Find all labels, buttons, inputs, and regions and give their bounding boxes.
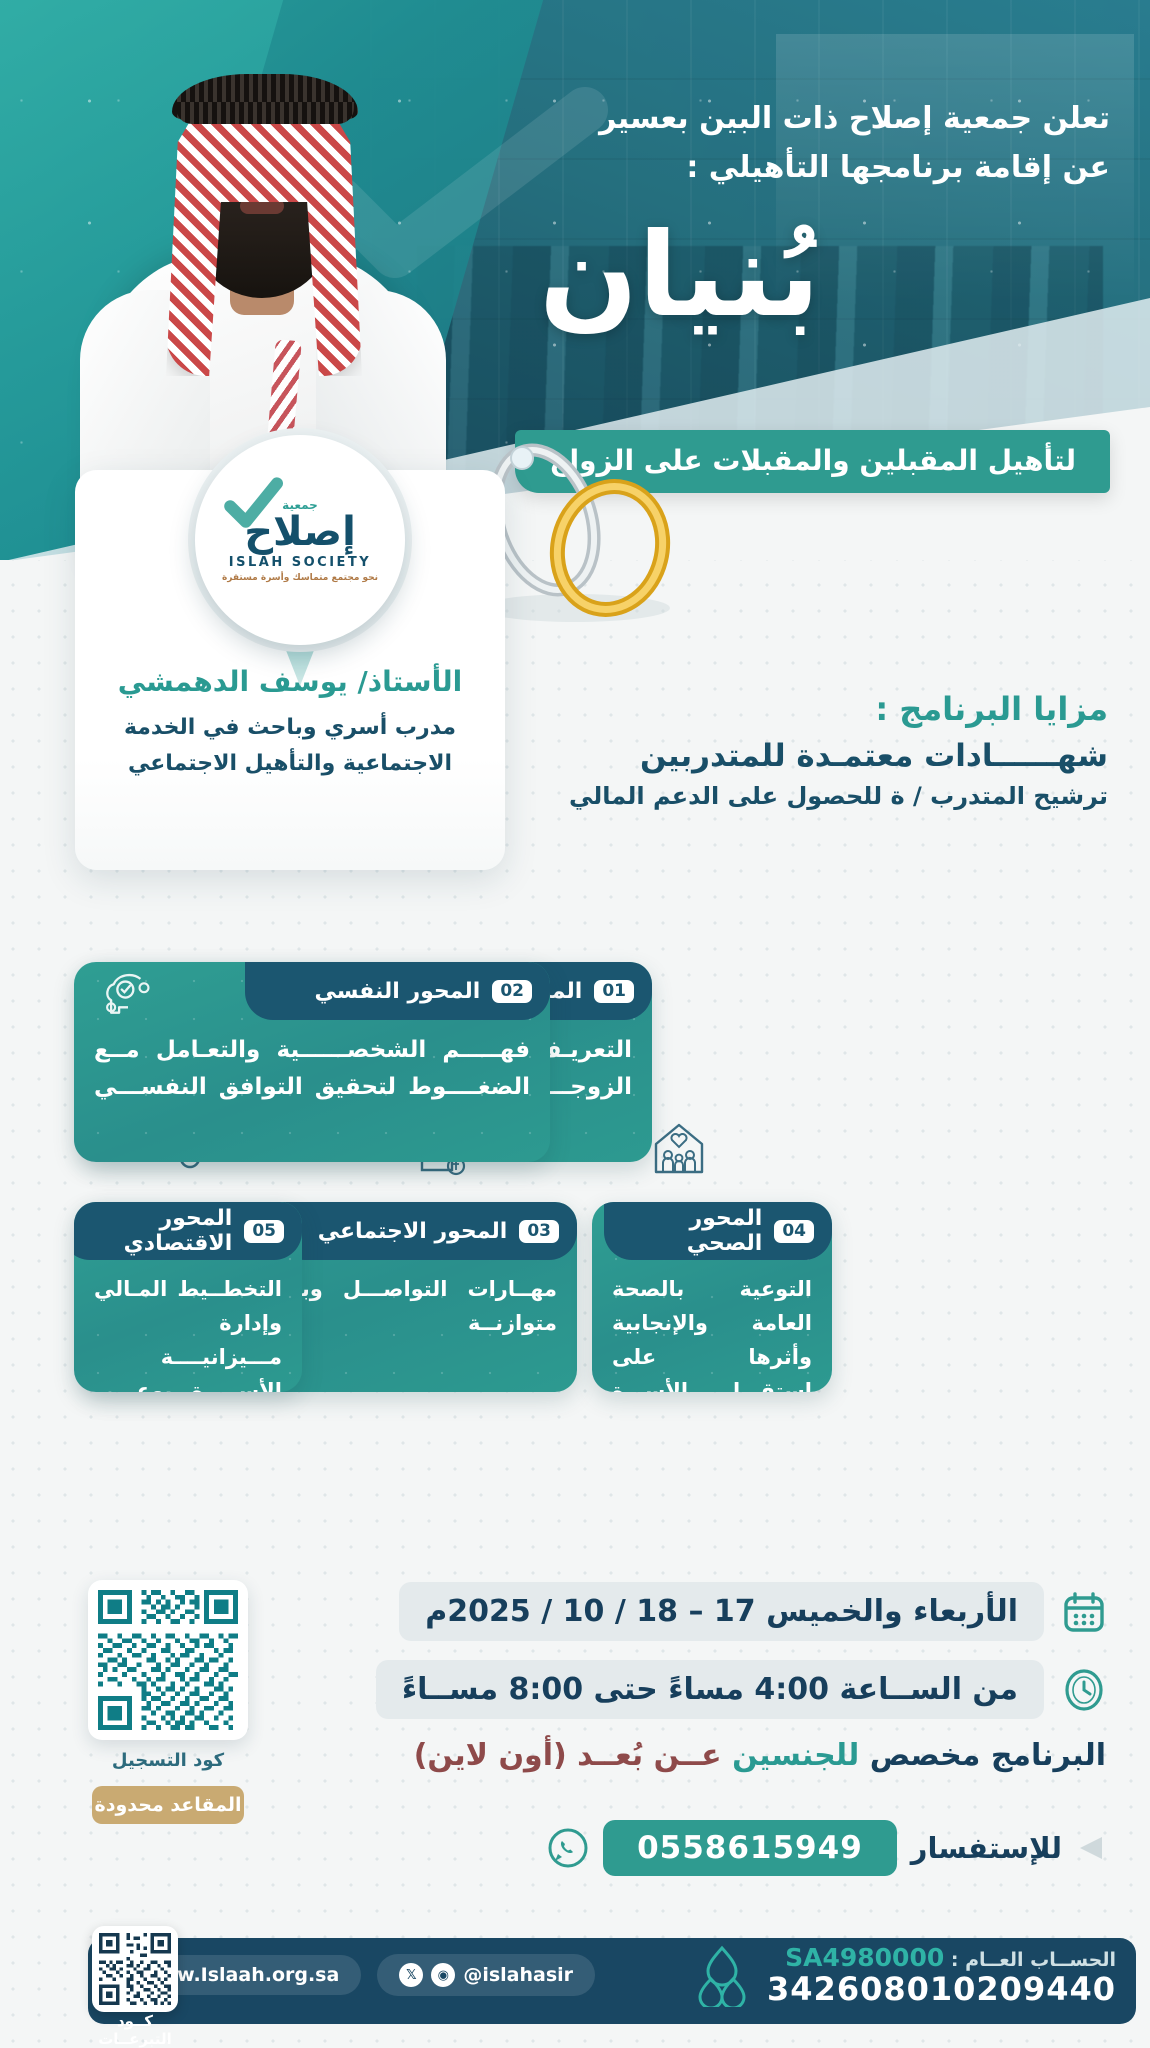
social-handle-pill[interactable]: 𝕏 ◉ @islahasir xyxy=(377,1954,595,1996)
axis-card-02-header: 02 المحور النفسي xyxy=(245,962,550,1020)
header-line-2: عن إقامة برنامجها التأهيلي : xyxy=(350,145,1110,190)
axis-card-05-body: التخطــيط المـالي وإدارة مـــيزانيــــة … xyxy=(94,1272,282,1392)
iban-prefix: SA4980000 xyxy=(785,1943,944,1972)
brain-gear-icon xyxy=(100,970,156,1018)
axis-card-03-number: 03 xyxy=(519,1220,559,1243)
axis-card-02-body: فهـــــم الشخصــــــية والتعـامل مــع ال… xyxy=(94,1032,530,1107)
axis-card-05-header: 05 المحور الاقتصادي xyxy=(74,1202,302,1260)
axis-card-05-number: 05 xyxy=(244,1220,284,1243)
program-benefits: مزايا البرنامج : شهــــــادات معتمـدة لل… xyxy=(448,690,1108,810)
audience-text-1: البرنامج مخصص xyxy=(870,1738,1106,1773)
audience-text-2: للجنسين xyxy=(732,1738,859,1773)
audience-line: البرنامج مخصص للجنسين عــن بُعــد (أون ل… xyxy=(414,1738,1106,1773)
logo-tagline: نحو مجتمع متماسك وأسرة مستقرة xyxy=(222,573,378,583)
inquiry-label: للإستفسار xyxy=(911,1831,1062,1865)
benefits-title: مزايا البرنامج : xyxy=(448,690,1108,728)
inquiry-phone[interactable]: 0558615949 xyxy=(603,1820,897,1876)
iban-number: 342608010209440 xyxy=(767,1972,1116,2008)
calendar-icon xyxy=(1062,1590,1106,1634)
axis-card-04-number: 04 xyxy=(774,1220,814,1243)
footer-bar: www.Islaah.org.sa 𝕏 ◉ @islahasir الحســا… xyxy=(0,1930,1150,2048)
social-handle-text: @islahasir xyxy=(463,1964,573,1986)
time-row: من الســاعة 4:00 مساءً حتى 8:00 مســاءً xyxy=(376,1660,1106,1719)
axis-card-04-header: 04 المحور الصحي xyxy=(604,1202,832,1260)
program-title: بُنيان xyxy=(539,218,820,334)
benefit-item-1: شهــــــادات معتمـدة للمتدربين xyxy=(448,738,1108,774)
axis-card-02-number: 02 xyxy=(492,980,532,1003)
date-row: الأربعاء والخميس 17 – 18 / 10 / 2025م xyxy=(399,1582,1106,1641)
speaker-role: مدرب أسري وباحث في الخدمة الاجتماعية وال… xyxy=(99,710,481,781)
qr-code-image xyxy=(98,1590,238,1730)
audience-text-3: عــن بُعــد (أون لاين) xyxy=(414,1738,722,1773)
iban-text: الحســاب العــام : SA4980000 34260801020… xyxy=(767,1944,1116,2008)
bank-account-block: الحســاب العــام : SA4980000 34260801020… xyxy=(693,1944,1116,2008)
axis-card-05[interactable]: 05 المحور الاقتصادي التخطــيط المـالي وإ… xyxy=(74,1202,302,1392)
registration-qr-caption: كود التسجيل xyxy=(88,1750,248,1771)
poster-root: تعلن جمعية إصلاح ذات البين بعسير عن إقام… xyxy=(0,0,1150,2048)
arrow-pointer-icon xyxy=(1076,1833,1106,1863)
footer-links: www.Islaah.org.sa 𝕏 ◉ @islahasir xyxy=(120,1954,595,1996)
check-mark-icon xyxy=(223,475,283,535)
whatsapp-icon[interactable] xyxy=(547,1827,589,1869)
x-icon[interactable]: 𝕏 xyxy=(399,1963,423,1987)
seats-badge: المقاعد محدودة xyxy=(92,1786,244,1824)
instagram-icon[interactable]: ◉ xyxy=(431,1963,455,1987)
logo-english-name: ISLAH SOCIETY xyxy=(229,555,371,570)
inquiry-row: للإستفسار 0558615949 xyxy=(547,1820,1106,1876)
axis-card-02-title: المحور النفسي xyxy=(315,979,481,1004)
header-announcement: تعلن جمعية إصلاح ذات البين بعسير عن إقام… xyxy=(350,96,1110,190)
donation-qr-code[interactable] xyxy=(92,1926,178,2012)
speaker-igal-lower xyxy=(176,102,354,124)
axis-card-02[interactable]: 02 المحور النفسي فهـــــم الشخصــــــية … xyxy=(74,962,550,1162)
donation-qr-caption: كــود التبرعــات xyxy=(80,2012,190,2048)
axis-card-03-header: 03 المحور الاجتماعي xyxy=(277,1202,577,1260)
organization-logo: جمعية إصلاح ISLAH SOCIETY نحو مجتمع متما… xyxy=(195,435,405,645)
registration-qr-code[interactable] xyxy=(88,1580,248,1740)
axis-card-04-title: المحور الصحي xyxy=(630,1206,762,1256)
donation-qr-image xyxy=(99,1933,171,2005)
axis-card-04-body: التوعية بالصحة العامة والإنجابية وأثرها … xyxy=(612,1272,812,1392)
axis-card-01-number: 01 xyxy=(594,980,634,1003)
axis-card-05-title: المحور الاقتصادي xyxy=(88,1206,232,1256)
bank-logo-icon xyxy=(693,1945,751,2007)
header-line-1: تعلن جمعية إصلاح ذات البين بعسير xyxy=(350,96,1110,141)
axis-card-03-title: المحور الاجتماعي xyxy=(318,1219,508,1244)
clock-icon xyxy=(1062,1668,1106,1712)
axis-card-04[interactable]: 04 المحور الصحي التوعية بالصحة العامة وا… xyxy=(592,1202,832,1392)
account-label: الحســاب العــام : xyxy=(951,1949,1116,1971)
account-label-row: الحســاب العــام : SA4980000 xyxy=(767,1944,1116,1972)
event-time: من الســاعة 4:00 مساءً حتى 8:00 مســاءً xyxy=(376,1660,1044,1719)
benefit-item-2: ترشيح المتدرب / ة للحصول على الدعم المال… xyxy=(448,782,1108,810)
event-date: الأربعاء والخميس 17 – 18 / 10 / 2025م xyxy=(399,1582,1044,1641)
family-home-icon xyxy=(648,1118,710,1180)
speaker-name: الأستاذ/ يوسف الدهمشي xyxy=(75,665,505,698)
